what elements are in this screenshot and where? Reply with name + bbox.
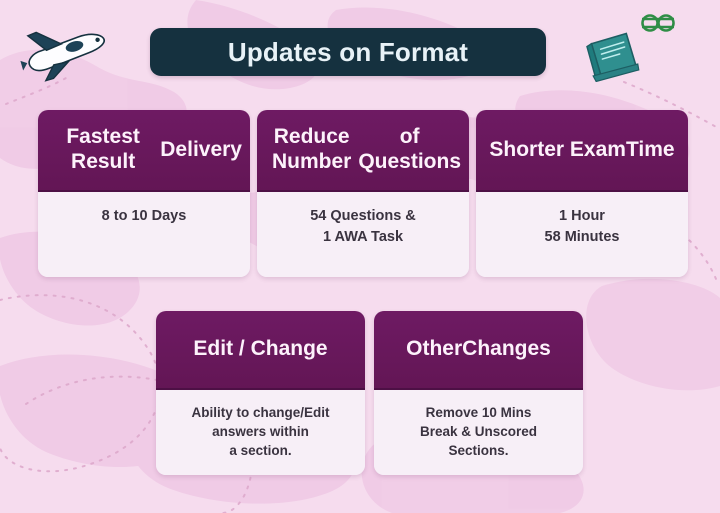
card-reduce-number-of-questions[interactable]: Reduce Number of Questions 54 Questions … <box>257 110 469 277</box>
card-body-line: 1 Hour <box>559 208 605 224</box>
card-header-title: Reduce Number of Questions <box>257 110 469 192</box>
card-header-title: Fastest Result Delivery <box>38 110 250 192</box>
card-header-line: Edit / Change <box>193 337 327 362</box>
card-fastest-result-delivery[interactable]: Fastest Result Delivery 8 to 10 Days <box>38 110 250 277</box>
card-body-text: Ability to change/Edit answers within a … <box>156 390 365 475</box>
card-header-title: Other Changes <box>374 311 583 390</box>
card-header-line: Fastest Result <box>46 125 160 175</box>
infographic-canvas: Updates on Format Fastest Result Deliver… <box>0 0 720 513</box>
card-header-title: Shorter Exam Time <box>476 110 688 192</box>
card-other-changes[interactable]: Other Changes Remove 10 Mins Break & Uns… <box>374 311 583 475</box>
airplane-icon <box>18 22 114 84</box>
card-body-text: 8 to 10 Days <box>38 192 250 277</box>
card-header-line: Reduce Number <box>265 125 358 175</box>
card-shorter-exam-time[interactable]: Shorter Exam Time 1 Hour 58 Minutes <box>476 110 688 277</box>
card-body-line: Remove 10 Mins <box>426 405 532 420</box>
card-body-line: 54 Questions & <box>310 208 416 224</box>
card-body-text: Remove 10 Mins Break & Unscored Sections… <box>374 390 583 475</box>
card-body-text: 1 Hour 58 Minutes <box>476 192 688 277</box>
card-body-line: Sections. <box>448 443 508 458</box>
card-header-line: Delivery <box>160 138 242 163</box>
card-body-line: Break & Unscored <box>420 424 537 439</box>
card-body-line: answers within <box>212 424 309 439</box>
card-header-line: Time <box>626 138 675 163</box>
card-body-line: 1 AWA Task <box>323 229 403 245</box>
card-header-line: Shorter Exam <box>489 138 626 163</box>
card-body-line: Ability to change/Edit <box>191 405 329 420</box>
card-body-text: 54 Questions & 1 AWA Task <box>257 192 469 277</box>
card-header-line: of Questions <box>358 125 461 175</box>
book-icon <box>586 30 642 82</box>
card-body-line: a section. <box>229 443 291 458</box>
page-title-bar: Updates on Format <box>150 28 546 76</box>
card-header-line: Other <box>406 337 462 362</box>
card-header-line: Changes <box>462 337 551 362</box>
card-header-title: Edit / Change <box>156 311 365 390</box>
card-body-line: 8 to 10 Days <box>102 208 187 224</box>
card-edit-change[interactable]: Edit / Change Ability to change/Edit ans… <box>156 311 365 475</box>
card-body-line: 58 Minutes <box>545 229 620 245</box>
page-title: Updates on Format <box>228 39 468 65</box>
